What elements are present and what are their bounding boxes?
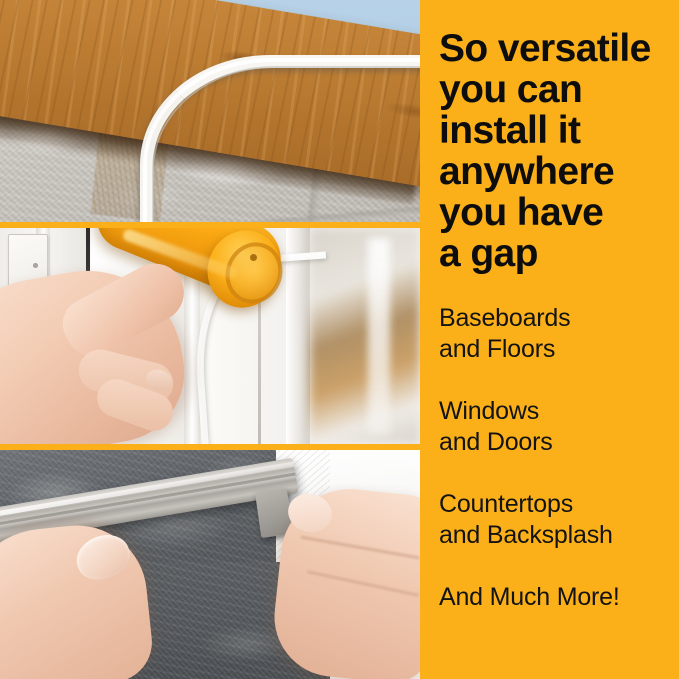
headline: So versatile you can install it anywhere…	[439, 28, 679, 274]
countertop-and-backsplash-photo	[0, 450, 420, 679]
photo-column	[0, 0, 420, 679]
applicator-tool-vent	[250, 254, 257, 261]
product-infographic-poster: So versatile you can install it anywhere…	[0, 0, 679, 679]
blurred-background-highlight	[368, 238, 390, 434]
benefit-item-windows-and-doors: Windows and Doors	[439, 396, 677, 458]
wall-plate-screw	[33, 263, 38, 268]
baseboard-and-floor-photo	[0, 0, 420, 222]
window-and-door-photo	[0, 228, 420, 444]
text-column: So versatile you can install it anywhere…	[420, 0, 679, 679]
benefit-item-countertops-and-backsplash: Countertops and Backsplash	[439, 489, 677, 551]
benefit-item-and-much-more: And Much More!	[439, 582, 677, 613]
benefit-item-baseboards-and-floors: Baseboards and Floors	[439, 303, 677, 365]
benefits-list: Baseboards and Floors Windows and Doors …	[439, 303, 677, 613]
